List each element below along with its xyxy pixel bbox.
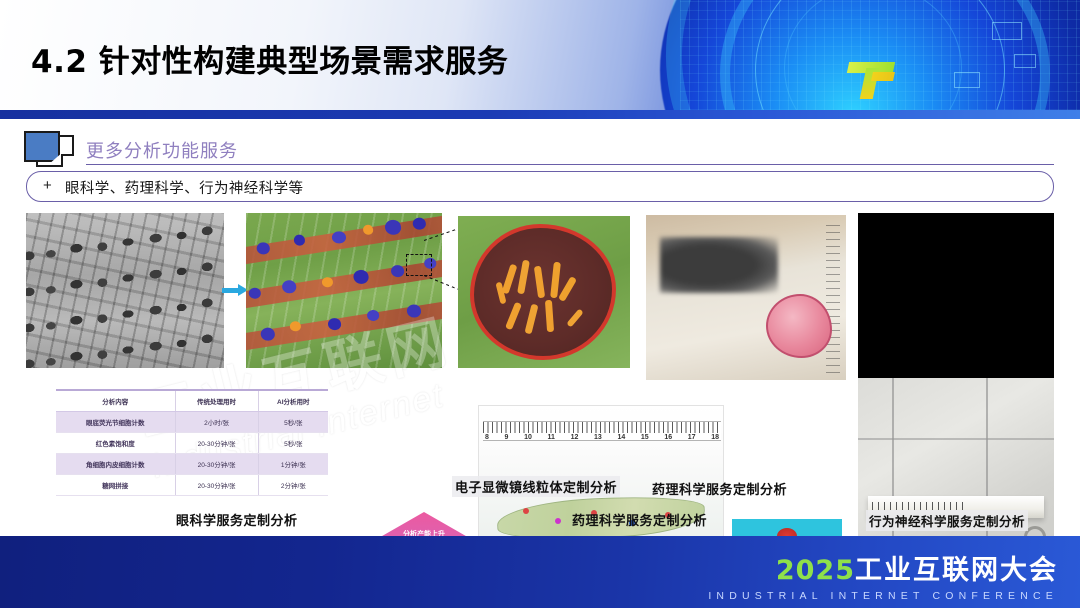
table-row: 眼底荧光节细胞计数 2小时/张 5秒/张 [56, 412, 328, 433]
caption-em-mito: 电子显微镜线粒体定制分析 [452, 476, 620, 497]
caption-pharmacology-top: 药理科学服务定制分析 [652, 479, 787, 498]
slide-header: 4.2 针对性构建典型场景需求服务 [0, 0, 1080, 110]
table-cell-traditional: 20-30分钟/张 [175, 454, 258, 475]
conference-logo: 2025工业互联网大会 INDUSTRIAL INTERNET CONFEREN… [708, 548, 1058, 602]
ruler-tick-label: 8 [485, 434, 489, 444]
pharmacology-specimen-image [646, 215, 846, 380]
table-cell-item: 糖网拼接 [56, 475, 175, 496]
table-header-ai: AI分析用时 [258, 390, 328, 412]
mitochondria-closeup-image [458, 216, 630, 368]
ruler-tick-label: 17 [688, 434, 696, 444]
ruler-tick-label: 16 [664, 434, 672, 444]
ruler-tick-label: 15 [641, 434, 649, 444]
caption-ophthalmology: 眼科学服务定制分析 [176, 510, 298, 529]
table-cell-ai: 1分钟/张 [258, 454, 328, 475]
ruler-tick-label: 13 [594, 434, 602, 444]
ruler-tick-label: 9 [505, 434, 509, 444]
table-header-row: 分析内容 传统处理用时 AI分析用时 [56, 390, 328, 412]
em-segmented-image [246, 213, 442, 368]
ruler-tick-label: 14 [617, 434, 625, 444]
ruler-tick-label: 10 [524, 434, 532, 444]
stacked-squares-icon [22, 131, 78, 171]
table-cell-item: 眼底荧光节细胞计数 [56, 412, 175, 433]
header-node-3-icon [954, 72, 980, 88]
transform-arrow-icon [222, 284, 248, 296]
slide-footer: 2025工业互联网大会 INDUSTRIAL INTERNET CONFEREN… [0, 536, 1080, 608]
behavior-black-panel [858, 213, 1054, 378]
table-cell-traditional: 2小时/张 [175, 412, 258, 433]
table-row: 红色素饱和度 20-30分钟/张 5秒/张 [56, 433, 328, 454]
roi-selection-box [406, 254, 432, 276]
table-header-traditional: 传统处理用时 [175, 390, 258, 412]
table-cell-traditional: 20-30分钟/张 [175, 433, 258, 454]
page-title: 4.2 针对性构建典型场景需求服务 [31, 36, 508, 81]
tech-t-logo-icon [846, 58, 902, 102]
table-header-item: 分析内容 [56, 390, 175, 412]
specimen-marker [523, 508, 529, 514]
section-heading: 更多分析功能服务 [86, 137, 238, 163]
header-divider [0, 110, 1080, 119]
conference-name-cn: 工业互联网大会 [855, 555, 1058, 586]
em-grayscale-image [26, 213, 224, 368]
conference-year: 2025 [776, 555, 855, 586]
table-cell-item: 红色素饱和度 [56, 433, 175, 454]
table-cell-item: 角细胞内皮细胞计数 [56, 454, 175, 475]
scope-pill-label: 眼科学、药理科学、行为神经科学等 [65, 177, 303, 198]
table-row: 角细胞内皮细胞计数 20-30分钟/张 1分钟/张 [56, 454, 328, 475]
ruler-numbers: 8 9 10 11 12 13 14 15 16 17 18 [483, 434, 721, 444]
caption-behavior: 行为神经科学服务定制分析 [866, 510, 1028, 531]
section-underline [86, 164, 1054, 165]
ruler-tick-label: 12 [571, 434, 579, 444]
ruler-ticks [483, 422, 721, 433]
slide-body: 更多分析功能服务 + 眼科学、药理科学、行为神经科学等 [0, 119, 1080, 608]
specimen-marker [555, 518, 561, 524]
header-node-2-icon [1014, 54, 1036, 68]
table-cell-ai: 5秒/张 [258, 412, 328, 433]
table-cell-ai: 2分钟/张 [258, 475, 328, 496]
table-cell-traditional: 20-30分钟/张 [175, 475, 258, 496]
ruler-tick-label: 18 [711, 434, 719, 444]
ruler-tick-label: 11 [548, 434, 555, 444]
header-node-1-icon [992, 22, 1022, 40]
table-cell-ai: 5秒/张 [258, 433, 328, 454]
plus-icon: + [43, 177, 52, 194]
conference-name-en: INDUSTRIAL INTERNET CONFERENCE [708, 590, 1058, 602]
scope-pill[interactable]: + 眼科学、药理科学、行为神经科学等 [26, 171, 1054, 202]
caption-pharmacology-bottom: 药理科学服务定制分析 [572, 510, 707, 529]
table-row: 糖网拼接 20-30分钟/张 2分钟/张 [56, 475, 328, 496]
slide-root: 4.2 针对性构建典型场景需求服务 更多分析功能服务 + 眼科学、药理科学、行为… [0, 0, 1080, 608]
analysis-time-table: 分析内容 传统处理用时 AI分析用时 眼底荧光节细胞计数 2小时/张 5秒/张 … [56, 389, 328, 496]
